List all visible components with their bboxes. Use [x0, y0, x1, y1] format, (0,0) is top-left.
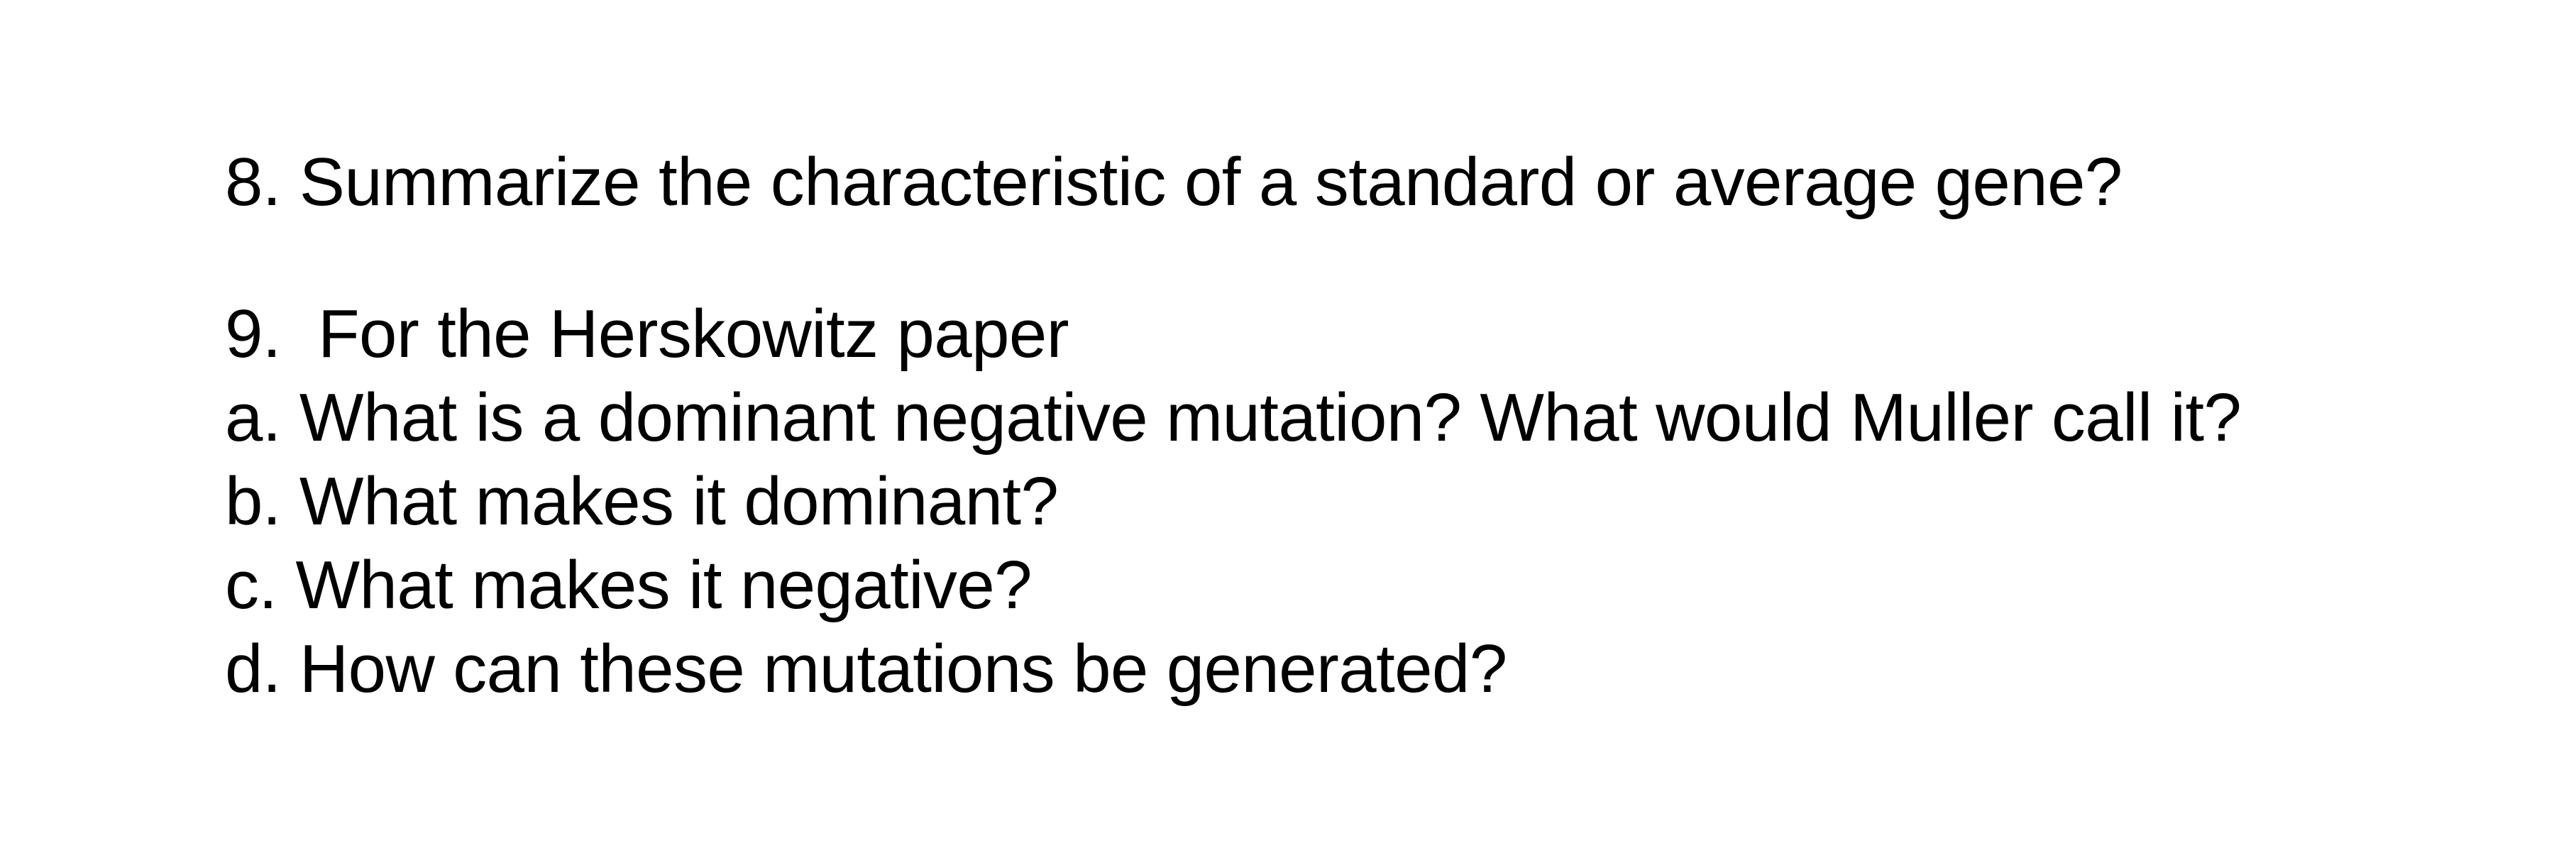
question-item-9a: a. What is a dominant negative mutation?…	[225, 376, 2482, 460]
question-item-9: 9. For the Herskowitz paper	[225, 292, 2482, 376]
document-page: 8. Summarize the characteristic of a sta…	[0, 0, 2576, 853]
question-item-9d: d. How can these mutations be generated?	[225, 627, 2482, 711]
question-item-8: 8. Summarize the characteristic of a sta…	[225, 145, 2482, 219]
question-item-9c: c. What makes it negative?	[225, 544, 2482, 627]
paragraph-spacer	[225, 219, 2482, 292]
question-item-9b: b. What makes it dominant?	[225, 460, 2482, 544]
question-list: 8. Summarize the characteristic of a sta…	[225, 145, 2482, 711]
